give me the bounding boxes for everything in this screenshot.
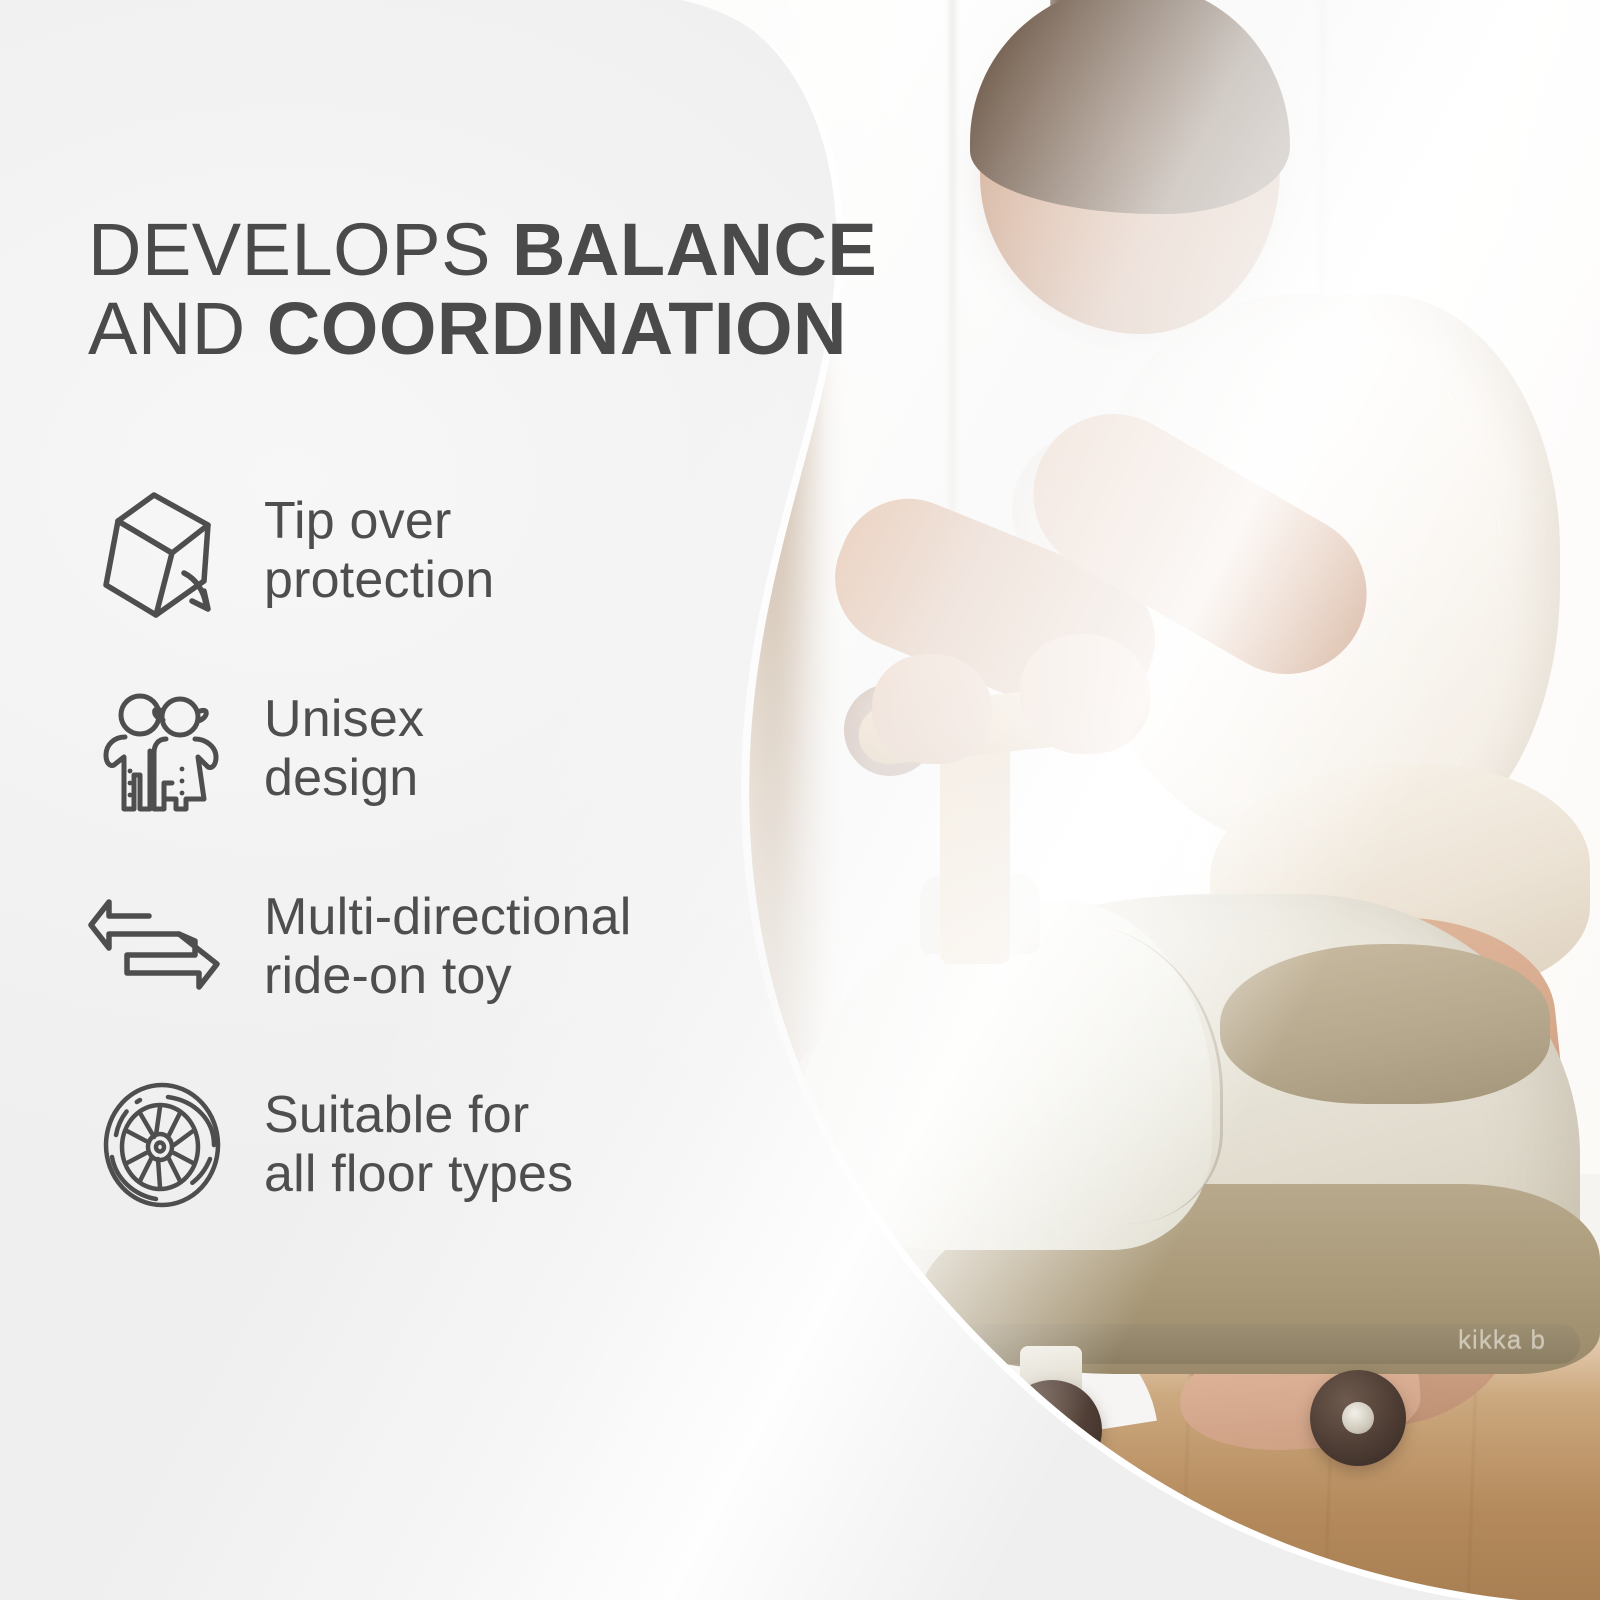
feature-label-line1: Unisex bbox=[264, 690, 424, 749]
headline-line2-bold: COORDINATION bbox=[267, 287, 847, 370]
two-children-icon bbox=[86, 673, 238, 825]
feature-item-all-floor-types: Suitable for all floor types bbox=[86, 1046, 726, 1244]
headline-line2-light: AND bbox=[88, 287, 267, 370]
headline-line1-light: DEVELOPS bbox=[88, 208, 512, 291]
wheel-icon bbox=[86, 1069, 238, 1221]
handlebar-post bbox=[940, 734, 1010, 964]
feature-label-multi-directional: Multi-directional ride-on toy bbox=[264, 888, 632, 1007]
feature-label-line2: ride-on toy bbox=[264, 947, 632, 1006]
feature-label-line1: Multi-directional bbox=[264, 888, 632, 947]
tip-over-box-arrow-icon bbox=[86, 475, 238, 627]
feature-label-all-floor-types: Suitable for all floor types bbox=[264, 1086, 573, 1205]
product-feature-banner: Sizzy kikka b DEVE bbox=[0, 0, 1600, 1600]
feature-label-line2: protection bbox=[264, 551, 494, 610]
double-arrow-left-right-icon bbox=[86, 871, 238, 1023]
page-title: DEVELOPS BALANCEAND COORDINATION bbox=[88, 210, 988, 370]
caster-hub bbox=[1342, 1402, 1374, 1434]
brand-emboss-text: kikka b bbox=[1458, 1324, 1546, 1355]
feature-label-tip-over-protection: Tip over protection bbox=[264, 492, 494, 611]
caster-fork bbox=[848, 1344, 908, 1400]
product-emboss-text: Sizzy bbox=[769, 1267, 858, 1311]
feature-item-multi-directional: Multi-directional ride-on toy bbox=[86, 848, 726, 1046]
feature-label-line2: design bbox=[264, 749, 424, 808]
feature-label-line1: Suitable for bbox=[264, 1086, 573, 1145]
feature-list: Tip over protection bbox=[86, 452, 726, 1244]
child-left-hand bbox=[872, 654, 992, 764]
caster-hub bbox=[862, 1414, 894, 1446]
feature-item-unisex-design: Unisex design bbox=[86, 650, 726, 848]
caster-wheel bbox=[1002, 1380, 1102, 1480]
headline-line1-bold: BALANCE bbox=[512, 208, 877, 291]
feature-label-line1: Tip over bbox=[264, 492, 494, 551]
feature-label-line2: all floor types bbox=[264, 1145, 573, 1204]
feature-item-tip-over-protection: Tip over protection bbox=[86, 452, 726, 650]
feature-label-unisex-design: Unisex design bbox=[264, 690, 424, 809]
child-hair bbox=[970, 0, 1290, 214]
ride-on-toy-seat bbox=[1220, 944, 1550, 1104]
child-right-hand bbox=[1020, 634, 1150, 754]
caster-wheel bbox=[832, 1384, 924, 1476]
